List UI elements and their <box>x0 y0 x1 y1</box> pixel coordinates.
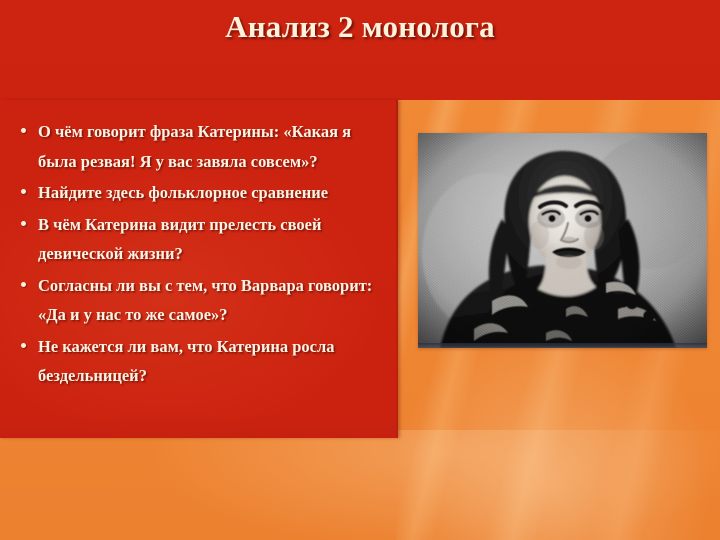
bullet-dot-icon <box>21 343 26 348</box>
list-item-text: Найдите здесь фольклорное сравнение <box>38 183 328 202</box>
presentation-slide: Анализ 2 монолога О чём говорит фраза Ка… <box>0 0 720 540</box>
list-item: О чём говорит фраза Катерины: «Какая я б… <box>14 117 392 176</box>
bullet-dot-icon <box>21 282 26 287</box>
list-item: Согласны ли вы с тем, что Варвара говори… <box>14 271 392 330</box>
portrait-illustration <box>418 133 707 348</box>
list-item: Не кажется ли вам, что Катерина росла бе… <box>14 332 392 391</box>
bullet-dot-icon <box>21 189 26 194</box>
bullet-dot-icon <box>21 221 26 226</box>
list-item-text: Не кажется ли вам, что Катерина росла бе… <box>38 337 334 386</box>
list-item: Найдите здесь фольклорное сравнение <box>14 178 392 208</box>
slide-title: Анализ 2 монолога <box>0 9 720 45</box>
bullet-dot-icon <box>21 128 26 133</box>
list-item: В чём Катерина видит прелесть своей деви… <box>14 210 392 269</box>
list-item-text: В чём Катерина видит прелесть своей деви… <box>38 215 321 264</box>
portrait-photo <box>418 133 707 348</box>
list-item-text: Согласны ли вы с тем, что Варвара говори… <box>38 276 372 325</box>
question-list: О чём говорит фраза Катерины: «Какая я б… <box>14 117 392 393</box>
list-item-text: О чём говорит фраза Катерины: «Какая я б… <box>38 122 351 171</box>
